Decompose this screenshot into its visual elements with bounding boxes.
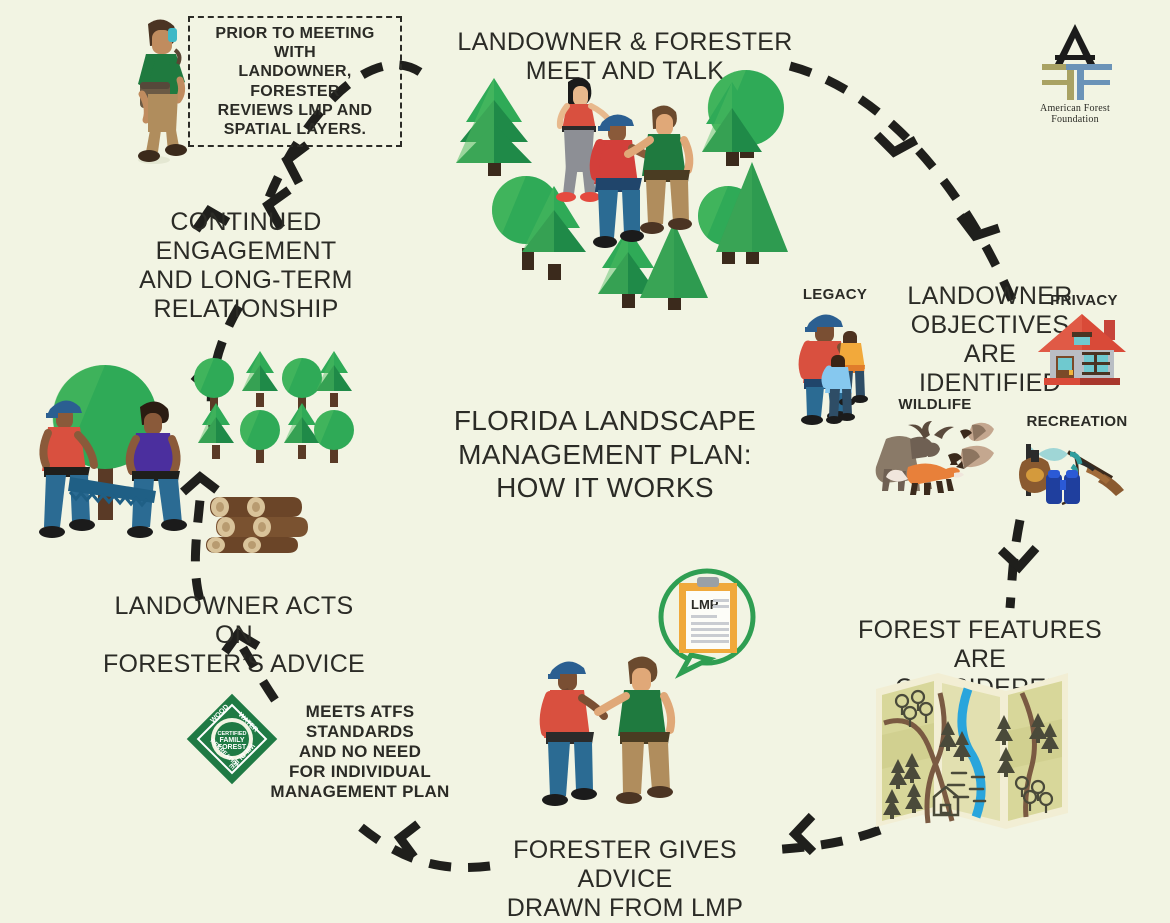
conifer-tree: [198, 403, 234, 459]
hardwood-tree: [194, 358, 234, 411]
goose-icon: [948, 446, 994, 469]
family-icon: [795, 303, 875, 428]
objective-label-privacy: PRIVACY: [1036, 292, 1132, 309]
objective-label-legacy: LEGACY: [790, 286, 880, 303]
step-landowner-acts: LANDOWNER ACTS ON FORESTER’S ADVICE: [100, 592, 368, 679]
tree-harvest-scene: [30, 345, 340, 560]
step-continued-engagement: CONTINUED ENGAGEMENT AND LONG-TERM RELAT…: [96, 208, 396, 324]
conifer-tree: [456, 78, 532, 176]
conifer-tree: [242, 351, 278, 407]
hardwood-tree: [240, 410, 280, 463]
wildlife-icon: [868, 415, 1008, 495]
log-pile-icon: [206, 497, 308, 553]
objective-label-wildlife: WILDLIFE: [893, 396, 977, 413]
person-forester: [598, 656, 673, 804]
step-prior-to-meeting: PRIOR TO MEETING WITH LANDOWNER, FORESTE…: [188, 16, 402, 147]
forest-meeting-scene: [440, 70, 800, 320]
brand-caption: American Forest Foundation: [1020, 103, 1130, 125]
step-meets-atfs-standards: MEETS ATFS STANDARDS AND NO NEED FOR IND…: [262, 702, 458, 802]
american-forest-foundation-logo: [1020, 18, 1130, 103]
tree-grid: [194, 351, 354, 463]
recreation-icon: [1016, 432, 1134, 510]
brand-logo-block: American Forest Foundation: [1020, 18, 1130, 125]
svg-text:FAMILY: FAMILY: [219, 737, 244, 744]
goose-icon: [960, 423, 994, 441]
infographic-canvas: PRIOR TO MEETING WITH LANDOWNER, FORESTE…: [0, 0, 1170, 907]
advice-conversation-scene: [528, 648, 708, 823]
step-forester-gives-advice: FORESTER GIVES ADVICE DRAWN FROM LMP: [470, 836, 780, 923]
page-title: FLORIDA LANDSCAPE MANAGEMENT PLAN: HOW I…: [430, 404, 780, 505]
forest-map-illustration: [872, 665, 1072, 835]
objective-label-recreation: RECREATION: [1018, 413, 1136, 430]
person-landowner: [542, 661, 604, 806]
house-icon: [1036, 310, 1128, 390]
binoculars-icon: [1046, 470, 1080, 504]
